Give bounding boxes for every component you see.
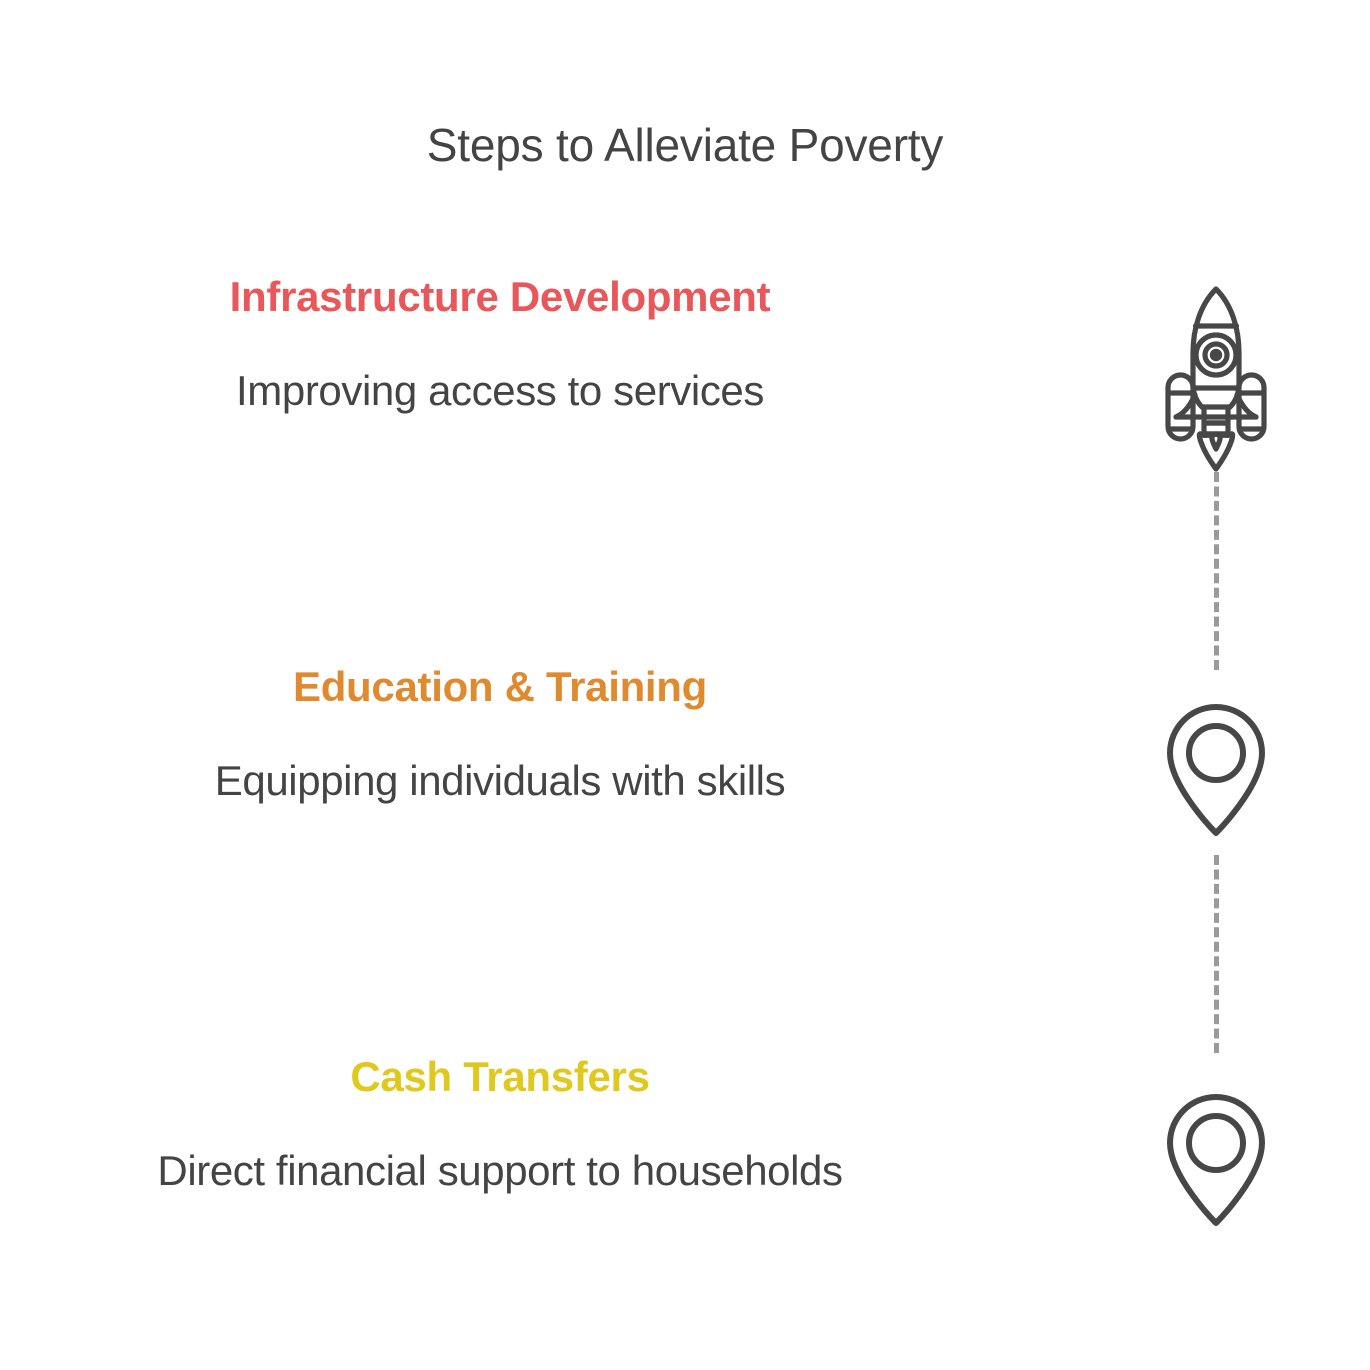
timeline-column [1126, 0, 1306, 1370]
map-pin-icon [1126, 700, 1306, 840]
step-description: Direct financial support to households [0, 1146, 1000, 1196]
rocket-icon [1126, 283, 1306, 473]
step-item-education-training: Education & Training Equipping individua… [0, 662, 1000, 805]
step-heading: Cash Transfers [0, 1052, 1000, 1102]
step-heading: Education & Training [0, 662, 1000, 712]
infographic-canvas: Steps to Alleviate Poverty Infrastructur… [0, 0, 1370, 1370]
step-description: Equipping individuals with skills [0, 756, 1000, 806]
rocket-icon-svg [1162, 283, 1270, 473]
steps-column: Infrastructure Development Improving acc… [0, 0, 1000, 1370]
map-pin-icon-svg [1164, 1093, 1268, 1227]
map-pin-icon [1126, 1090, 1306, 1230]
connector-dashed-line [1214, 472, 1219, 670]
step-item-infrastructure-development: Infrastructure Development Improving acc… [0, 272, 1000, 415]
step-description: Improving access to services [0, 366, 1000, 416]
step-item-cash-transfers: Cash Transfers Direct financial support … [0, 1052, 1000, 1195]
connector-dashed-line [1214, 855, 1219, 1053]
step-heading: Infrastructure Development [0, 272, 1000, 322]
map-pin-icon-svg [1164, 703, 1268, 837]
